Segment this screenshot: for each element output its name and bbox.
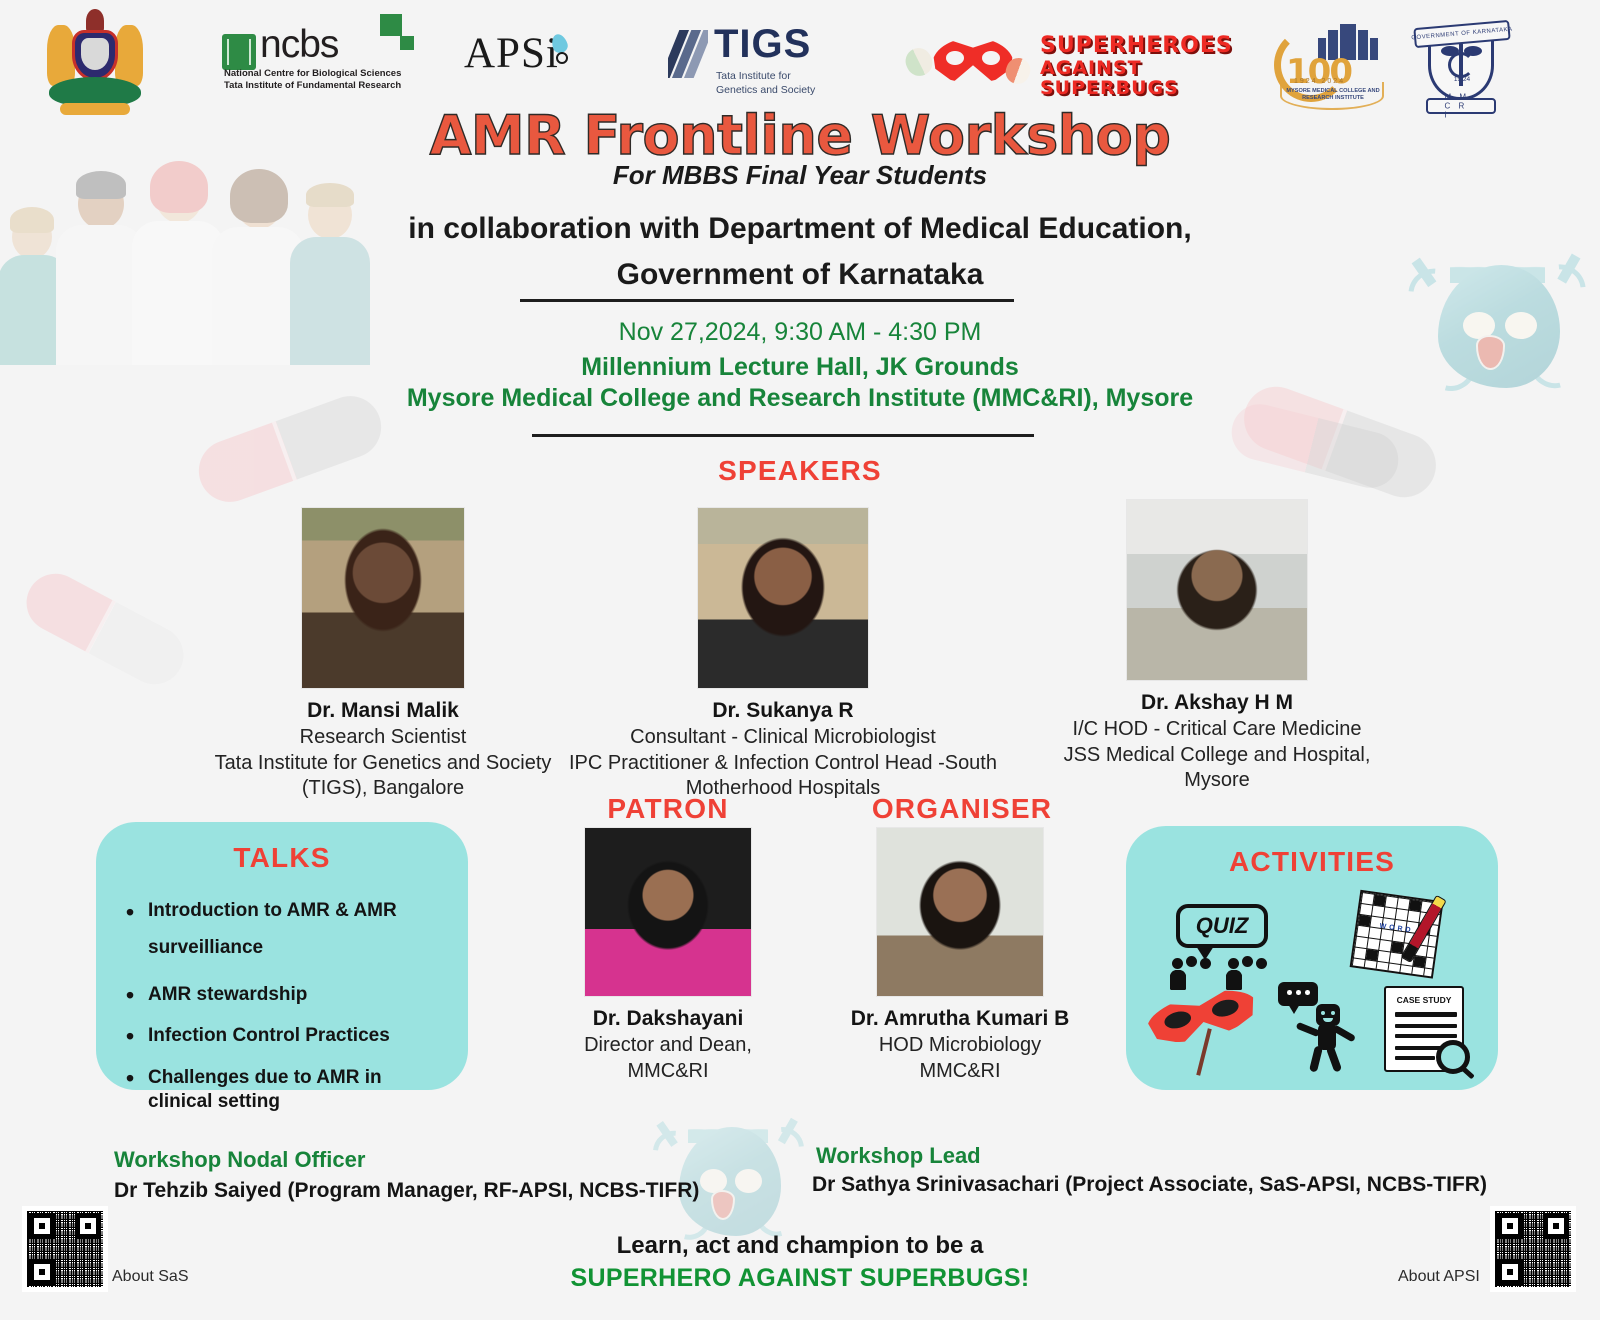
patron-role-line-2: MMC&RI [508, 1059, 828, 1085]
event-datetime: Nov 27,2024, 9:30 AM - 4:30 PM [0, 318, 1600, 347]
tagline-line-1: Learn, act and champion to be a [0, 1232, 1600, 1260]
tigs-subtitle-line1: Tata Institute for [716, 70, 815, 84]
superheroes-against-superbugs-logo: SUPERHEROES AGAINST SUPERBUGS [890, 30, 1200, 94]
speakers-section-label: SPEAKERS [0, 455, 1600, 487]
tigs-wordmark: TIGS [714, 24, 811, 64]
speaker-card: Dr. Akshay H M I/C HOD - Critical Care M… [997, 500, 1437, 794]
crest-year: 19 24 [1454, 76, 1470, 83]
tagline-line-2: SUPERHERO AGAINST SUPERBUGS! [0, 1264, 1600, 1293]
collaboration-text: in collaboration with Department of Medi… [0, 206, 1600, 297]
patron-section-label: PATRON [508, 793, 828, 825]
serpent-icon [1448, 52, 1474, 78]
patron-role-line-1: Director and Dean, [508, 1033, 828, 1059]
roleplay-actor-icon [1278, 982, 1364, 1070]
mask-icon [1146, 990, 1264, 1068]
sas-wordmark-line2: AGAINST SUPERBUGS [1040, 58, 1233, 99]
crest-ribbon: GOVERNMENT OF KARNATAKA [1413, 20, 1510, 48]
organiser-role-line-1: HOD Microbiology [800, 1033, 1120, 1059]
activities-illustration: QUIZ WORD [1126, 878, 1498, 1068]
speaker-role-line-1: Consultant - Clinical Microbiologist [558, 725, 1008, 751]
speaker-role-line-3: Mysore [997, 768, 1437, 794]
tigs-logo: TIGS Tata Institute for Genetics and Soc… [668, 28, 868, 104]
nodal-officer-name: Dr Tehzib Saiyed (Program Manager, RF-AP… [114, 1179, 699, 1203]
quiz-icon: QUIZ [1168, 904, 1276, 994]
avatar [877, 828, 1043, 996]
list-item: Introduction to AMR & AMR surveilliance [126, 892, 442, 966]
case-study-label: CASE STUDY [1386, 995, 1462, 1005]
organiser-card: Dr. Amrutha Kumari B HOD Microbiology MM… [800, 828, 1120, 1084]
ncbs-leaf-icon [222, 34, 256, 70]
logo-row: ncbs National Centre for Biological Scie… [0, 0, 1600, 120]
talks-list: Introduction to AMR & AMR surveilliance … [126, 892, 442, 1114]
people-group-icon [1226, 956, 1272, 990]
avatar [585, 828, 751, 996]
tigs-subtitle-line2: Genetics and Society [716, 84, 815, 98]
divider-bottom [532, 434, 1034, 437]
crossword-word: WORD [1379, 923, 1414, 935]
speaker-name: Dr. Sukanya R [558, 698, 1008, 723]
organiser-section-label: ORGANISER [812, 793, 1112, 825]
apsi-logo: APSi [464, 32, 584, 94]
crossword-icon: WORD [1348, 890, 1455, 989]
mmcri-centenary-subtitle: MYSORE MEDICAL COLLEGE AND RESEARCH INST… [1278, 88, 1388, 102]
capsule-pill-icon [901, 44, 937, 81]
ncbs-square-icon [400, 36, 414, 50]
qr-code-sas-label: About SaS [112, 1268, 189, 1286]
workshop-lead-name: Dr Sathya Srinivasachari (Project Associ… [812, 1173, 1487, 1197]
ncbs-subtitle-line2: Tata Institute of Fundamental Research [224, 80, 401, 92]
list-item: Infection Control Practices [126, 1024, 442, 1048]
ncbs-wordmark: ncbs [260, 25, 338, 64]
avatar [1127, 500, 1307, 680]
qr-code-apsi[interactable] [1490, 1206, 1576, 1292]
venue-line-1: Millennium Lecture Hall, JK Grounds [0, 352, 1600, 383]
divider-top [520, 299, 1014, 302]
quiz-label: QUIZ [1180, 913, 1264, 939]
event-venue: Millennium Lecture Hall, JK Grounds Myso… [0, 352, 1600, 413]
speaker-role-line-1: I/C HOD - Critical Care Medicine [997, 717, 1437, 743]
government-of-karnataka-emblem-icon [40, 8, 150, 116]
poster-root: ncbs National Centre for Biological Scie… [0, 0, 1600, 1320]
speaker-card: Dr. Sukanya R Consultant - Clinical Micr… [558, 508, 1008, 802]
page-subtitle: For MBBS Final Year Students [0, 160, 1600, 191]
people-group-icon [1170, 956, 1216, 990]
collaboration-line-1: in collaboration with Department of Medi… [0, 206, 1600, 252]
ncbs-logo: ncbs National Centre for Biological Scie… [222, 26, 412, 104]
patron-name: Dr. Dakshayani [508, 1006, 828, 1031]
workshop-lead-role: Workshop Lead [816, 1143, 981, 1169]
ncbs-subtitle-line1: National Centre for Biological Sciences [224, 68, 401, 80]
crest-ribbon-text: GOVERNMENT OF KARNATAKA [1411, 27, 1513, 42]
tigs-slash-icon [668, 30, 708, 78]
venue-line-2: Mysore Medical College and Research Inst… [0, 383, 1600, 414]
activities-card: ACTIVITIES QUIZ WORD [1126, 826, 1498, 1090]
avatar [302, 508, 464, 688]
mmcri-centenary-logo: 100 1924 2024 MYSORE MEDICAL COLLEGE AND… [1272, 12, 1392, 116]
collaboration-line-2: Government of Karnataka [0, 252, 1600, 298]
ncbs-square-icon [380, 14, 402, 36]
magnifier-icon [556, 52, 568, 64]
nodal-officer-role: Workshop Nodal Officer [114, 1147, 365, 1173]
qr-code-sas[interactable] [22, 1206, 108, 1292]
sas-wordmark-line1: SUPERHEROES [1040, 34, 1233, 58]
page-title: AMR Frontline Workshop [0, 104, 1600, 167]
superhero-mask-icon [932, 38, 1014, 82]
activities-card-title: ACTIVITIES [1126, 846, 1498, 878]
speaker-role-line-2: JSS Medical College and Hospital, [997, 743, 1437, 769]
talks-card: TALKS Introduction to AMR & AMR surveill… [96, 822, 468, 1090]
list-item: AMR stewardship [126, 983, 442, 1007]
patron-card: Dr. Dakshayani Director and Dean, MMC&RI [508, 828, 828, 1084]
speaker-role-line-2: IPC Practitioner & Infection Control Hea… [558, 751, 1008, 777]
case-study-icon: CASE STUDY [1384, 986, 1480, 1082]
organiser-role-line-2: MMC&RI [800, 1059, 1120, 1085]
mmcri-crest-logo: 19 24 GOVERNMENT OF KARNATAKA M M C R I [1412, 18, 1512, 114]
talks-card-title: TALKS [96, 842, 468, 874]
qr-code-apsi-label: About APSI [1398, 1268, 1480, 1286]
magnifier-icon [1436, 1040, 1470, 1074]
list-item: Challenges due to AMR in clinical settin… [126, 1066, 442, 1115]
speaker-name: Dr. Akshay H M [997, 690, 1437, 715]
avatar [698, 508, 868, 688]
organiser-name: Dr. Amrutha Kumari B [800, 1006, 1120, 1031]
